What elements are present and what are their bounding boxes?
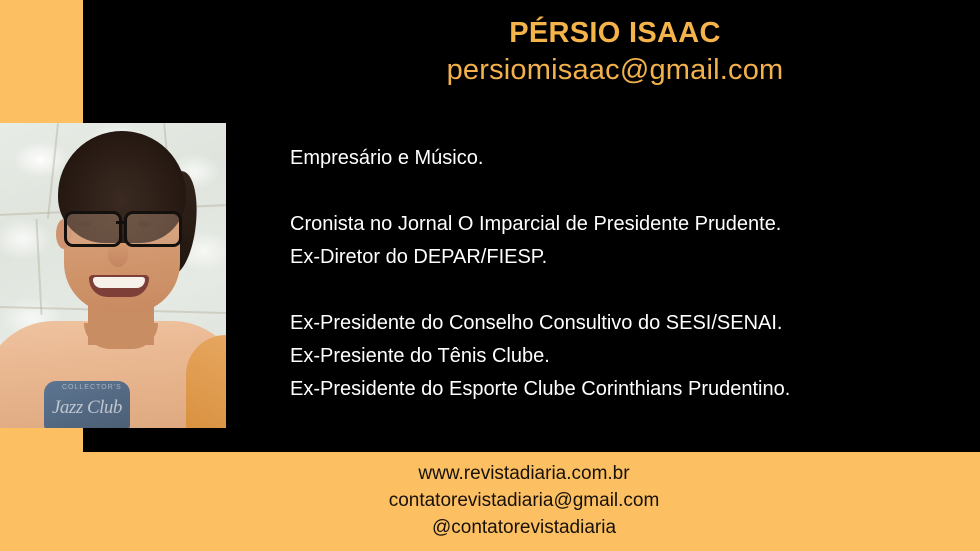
biography-paragraph: Cronista no Jornal O Imparcial de Presid… [290,208,930,274]
footer-band: www.revistadiaria.com.br contatorevistad… [0,452,980,551]
portrait-photo: COLLECTOR'S Jazz Club [0,123,226,428]
biography-line: Ex-Diretor do DEPAR/FIESP. [290,241,930,274]
biography-line: Ex-Presiente do Tênis Clube. [290,340,930,373]
footer-social-handle[interactable]: @contatorevistadiaria [0,514,980,541]
biography-text: Empresário e Músico. Cronista no Jornal … [290,142,930,406]
footer-website[interactable]: www.revistadiaria.com.br [0,460,980,487]
footer-contact-block: www.revistadiaria.com.br contatorevistad… [0,460,980,541]
header-email: persiomisaac@gmail.com [250,54,980,87]
footer-email[interactable]: contatorevistadiaria@gmail.com [0,487,980,514]
biography-line: Ex-Presidente do Conselho Consultivo do … [290,307,930,340]
biography-line: Ex-Presidente do Esporte Clube Corinthia… [290,373,930,406]
paragraph-spacer [290,274,930,307]
eyeglass-lens-left [64,211,122,247]
shirt-graphic-top-text: COLLECTOR'S [62,384,122,391]
biography-line: Cronista no Jornal O Imparcial de Presid… [290,208,930,241]
shirt-graphic-text: Jazz Club [52,397,122,419]
business-card-slide: COLLECTOR'S Jazz Club PÉRSIO ISAAC persi… [0,0,980,551]
wall-seam-icon [35,219,42,315]
biography-line: Empresário e Músico. [290,142,930,175]
wall-seam-icon [47,123,59,219]
biography-paragraph: Empresário e Músico. [290,142,930,175]
page-title: PÉRSIO ISAAC [250,18,980,50]
shirt-graphic: COLLECTOR'S Jazz Club [44,381,130,428]
paragraph-spacer [290,175,930,208]
eyeglass-lens-right [124,211,182,247]
eyeglasses-icon [60,209,186,243]
photo-background-wall: COLLECTOR'S Jazz Club [0,123,226,428]
photo-mouth [89,275,149,297]
biography-paragraph: Ex-Presidente do Conselho Consultivo do … [290,307,930,406]
photo-teeth [93,277,145,288]
